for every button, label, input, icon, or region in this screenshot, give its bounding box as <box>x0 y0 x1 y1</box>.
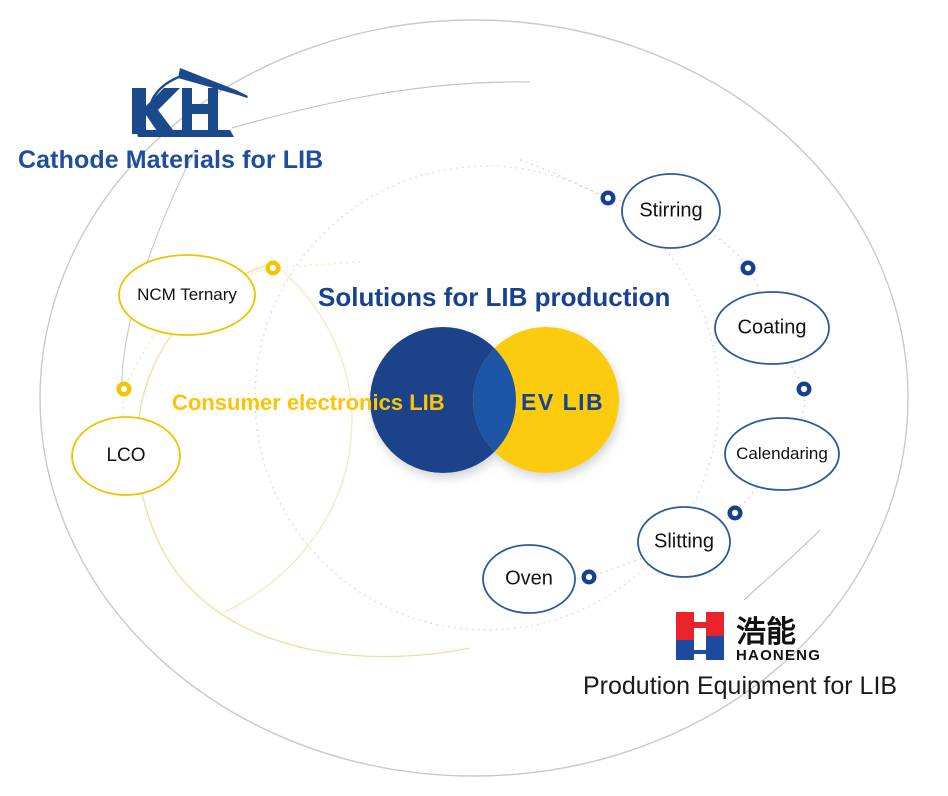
process-node-stirring[interactable] <box>622 174 720 248</box>
page-title: Solutions for LIB production <box>318 282 670 313</box>
material-node-ncm-ternary[interactable] <box>119 255 255 335</box>
connector-dot-slitting <box>728 506 743 521</box>
haoneng-latin-text: HAONENG <box>736 647 821 664</box>
process-node-calendaring[interactable] <box>725 418 839 490</box>
haoneng-connector-arc <box>744 530 820 600</box>
diagram-canvas: Cathode Materials for LIB 浩能 HAONENG Pro… <box>0 0 948 796</box>
material-node-lco[interactable] <box>72 417 180 495</box>
connector-dot-oven <box>582 570 597 585</box>
connector-dot-ncm <box>266 261 281 276</box>
connector-dot-coating <box>741 261 756 276</box>
process-node-oven[interactable] <box>483 545 575 613</box>
cathode-materials-caption: Cathode Materials for LIB <box>18 146 323 175</box>
kh-logo-mark <box>118 62 248 142</box>
consumer-electronics-label: Consumer electronics LIB <box>172 390 445 416</box>
connector-dot-stirring <box>601 191 616 206</box>
production-equipment-caption: Prodution Equipment for LIB <box>583 672 897 701</box>
process-node-slitting[interactable] <box>638 507 730 577</box>
connector-dot-calendaring <box>797 382 812 397</box>
haoneng-logo: 浩能 HAONENG <box>672 606 842 666</box>
connector-dot-lco <box>117 382 132 397</box>
haoneng-logo-mark: 浩能 HAONENG <box>672 606 842 666</box>
haoneng-chinese-text: 浩能 <box>736 616 796 649</box>
kh-logo <box>118 62 248 142</box>
process-node-coating[interactable] <box>715 292 829 364</box>
kh-connector-arc <box>232 82 530 128</box>
ev-lib-label: EV LIB <box>521 389 604 416</box>
